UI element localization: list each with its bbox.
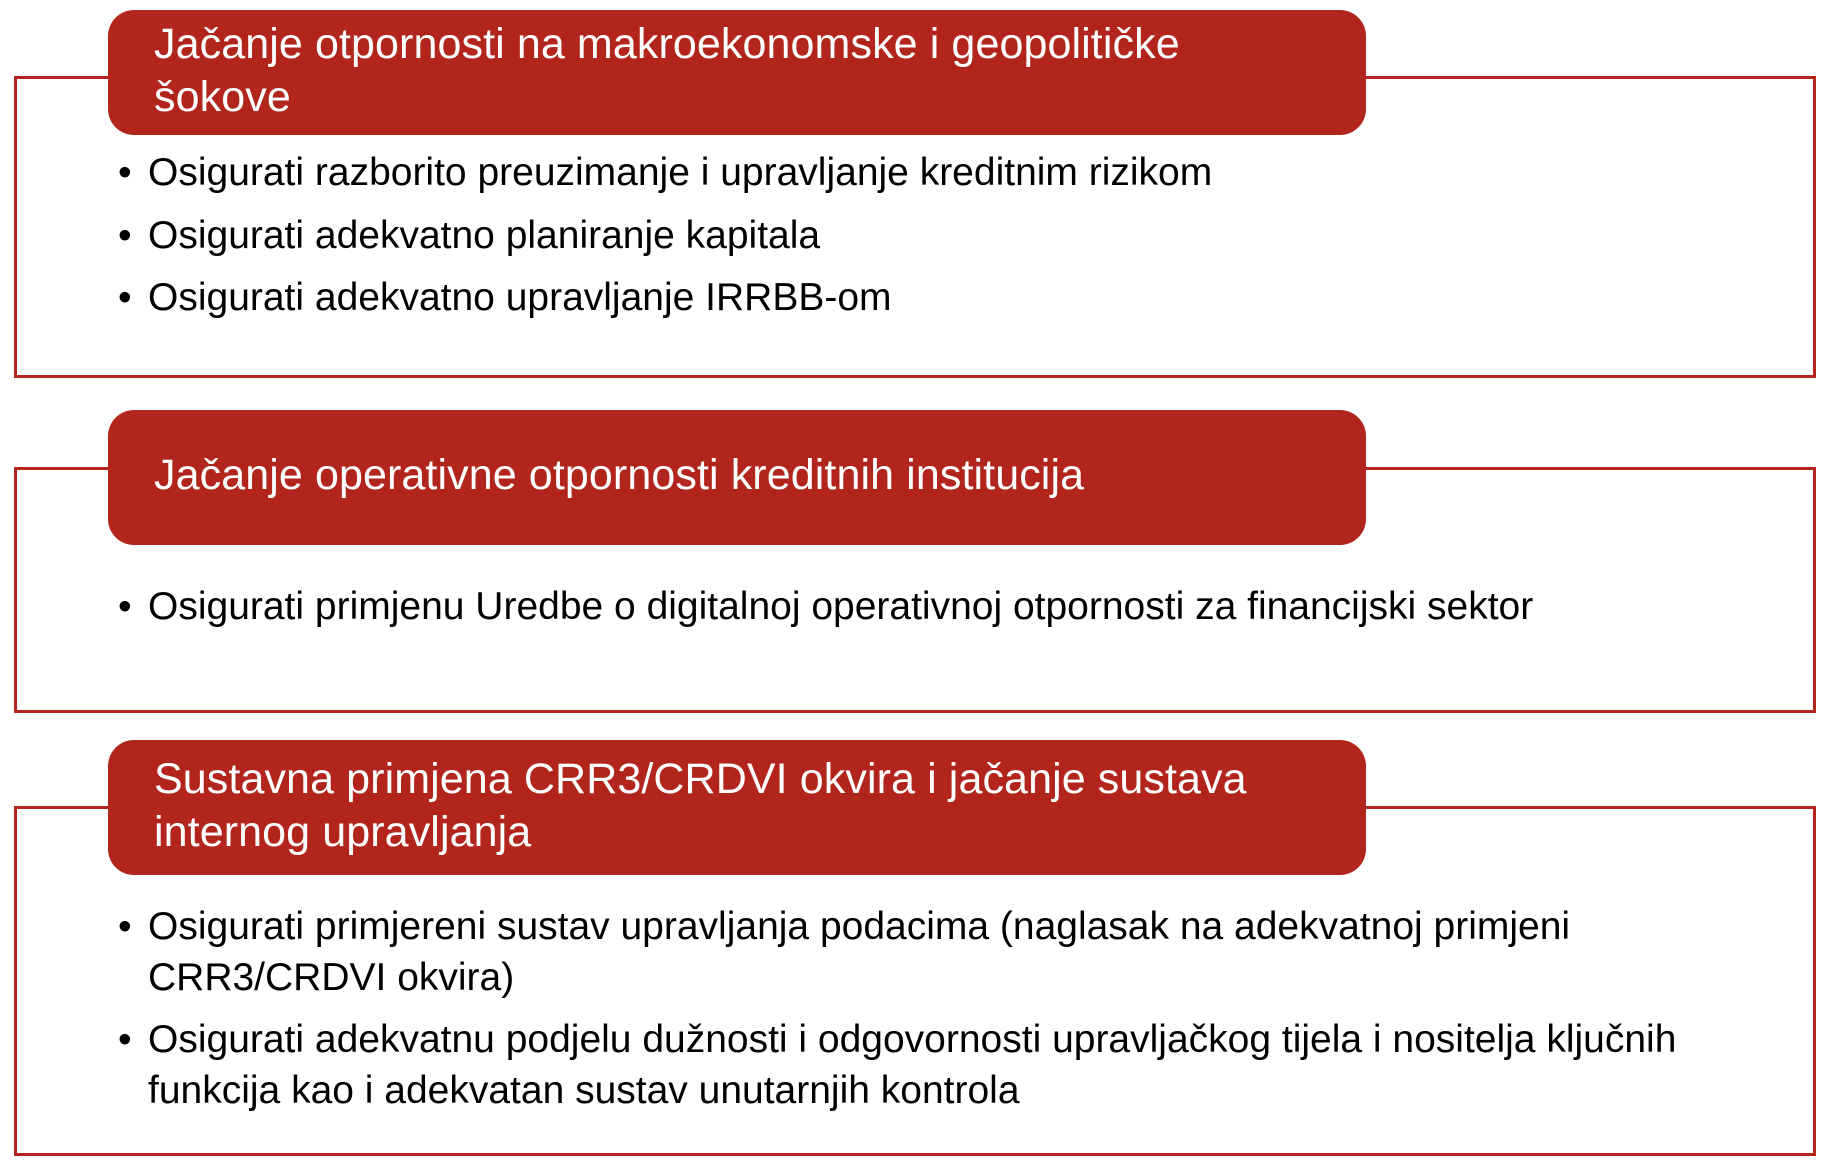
list-item: • Osigurati primjereni sustav upravljanj… — [116, 902, 1736, 1003]
priority-section-2: Jačanje operativne otpornosti kreditnih … — [14, 400, 1816, 715]
bullet-glyph-icon: • — [118, 148, 132, 199]
bullet-glyph-icon: • — [118, 902, 132, 953]
bullet-text: Osigurati adekvatno upravljanje IRRBB-om — [148, 276, 892, 319]
bullet-glyph-icon: • — [118, 582, 132, 633]
section-3-header-pill[interactable]: Sustavna primjena CRR3/CRDVI okvira i ja… — [108, 740, 1366, 875]
bullet-text: Osigurati adekvatnu podjelu dužnosti i o… — [148, 1018, 1676, 1112]
priority-section-3: Sustavna primjena CRR3/CRDVI okvira i ja… — [14, 730, 1816, 1160]
section-2-title: Jačanje operativne otpornosti kreditnih … — [154, 449, 1084, 501]
priority-section-1: Jačanje otpornosti na makroekonomske i g… — [14, 0, 1816, 380]
list-item: • Osigurati adekvatnu podjelu dužnosti i… — [116, 1015, 1736, 1116]
bullet-text: Osigurati primjereni sustav upravljanja … — [148, 905, 1570, 999]
bullet-glyph-icon: • — [118, 1015, 132, 1066]
bullet-glyph-icon: • — [118, 211, 132, 262]
section-2-bullet-list: • Osigurati primjenu Uredbe o digitalnoj… — [116, 582, 1736, 633]
list-item: • Osigurati primjenu Uredbe o digitalnoj… — [116, 582, 1736, 633]
list-item: • Osigurati razborito preuzimanje i upra… — [116, 148, 1736, 199]
section-1-bullet-list: • Osigurati razborito preuzimanje i upra… — [116, 148, 1736, 324]
section-1-title: Jačanje otpornosti na makroekonomske i g… — [154, 18, 1320, 123]
diagram-canvas: Jačanje otpornosti na makroekonomske i g… — [0, 0, 1830, 1170]
section-2-header-pill[interactable]: Jačanje operativne otpornosti kreditnih … — [108, 410, 1366, 545]
section-3-bullet-list: • Osigurati primjereni sustav upravljanj… — [116, 902, 1736, 1117]
list-item: • Osigurati adekvatno planiranje kapital… — [116, 211, 1736, 262]
bullet-glyph-icon: • — [118, 273, 132, 324]
bullet-text: Osigurati primjenu Uredbe o digitalnoj o… — [148, 585, 1533, 628]
list-item: • Osigurati adekvatno upravljanje IRRBB-… — [116, 273, 1736, 324]
bullet-text: Osigurati adekvatno planiranje kapitala — [148, 214, 820, 257]
section-1-header-pill[interactable]: Jačanje otpornosti na makroekonomske i g… — [108, 10, 1366, 135]
bullet-text: Osigurati razborito preuzimanje i upravl… — [148, 151, 1212, 194]
section-3-title: Sustavna primjena CRR3/CRDVI okvira i ja… — [154, 753, 1320, 858]
